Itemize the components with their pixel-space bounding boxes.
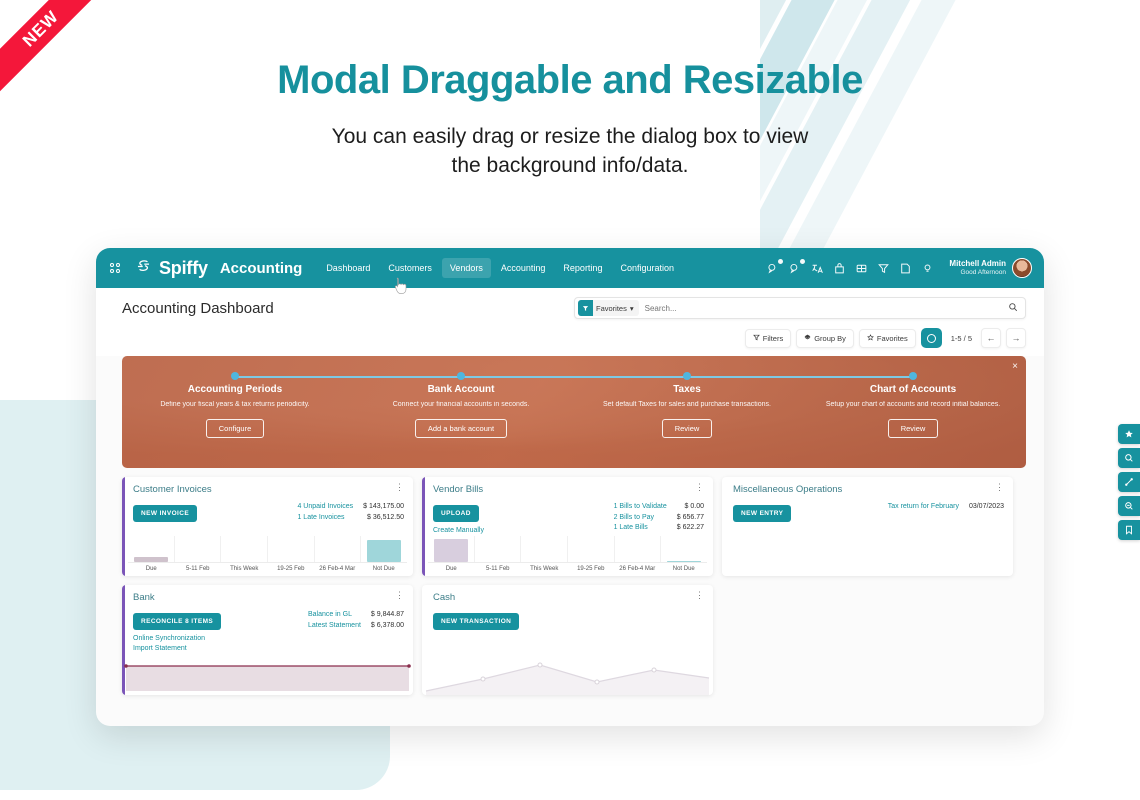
new-invoice-button[interactable]: NEW INVOICE [133,505,197,522]
new-ribbon-label: NEW [0,0,105,93]
chart-x-axis: Due 5-11 Feb This Week 19-25 Feb 26 Feb-… [428,562,707,572]
x-tick: 26 Feb-4 Mar [314,563,361,572]
stat-values: 03/07/2023 [969,502,1004,522]
x-tick: 26 Feb-4 Mar [614,563,661,572]
brand-name: Spiffy [159,258,208,279]
bank-area-chart [122,661,413,695]
menu-item-configuration[interactable]: Configuration [612,258,682,278]
avatar[interactable] [1012,258,1032,278]
discuss-badge [800,259,805,264]
customer-invoices-chart: Due 5-11 Feb This Week 19-25 Feb 26 Feb-… [128,536,407,576]
card-stats: Tax return for February 03/07/2023 [888,502,1004,522]
pager-previous-button[interactable]: ← [981,328,1001,348]
step-dot [683,372,691,380]
stat-label-late-invoices[interactable]: 1 Late Invoices [297,513,353,524]
card-title: Cash [433,592,455,603]
card-header: Cash ⋮ [433,592,704,603]
layers-icon [804,334,811,343]
step-title: Bank Account [348,384,574,395]
menu-item-customers[interactable]: Customers [380,258,440,278]
stat-value-latest-statement: $ 6,378.00 [371,621,404,632]
stat-values: $ 9,844.87 $ 6,378.00 [371,610,404,654]
kebab-menu-icon[interactable]: ⋮ [695,484,704,491]
shop-icon[interactable] [833,262,846,275]
kebab-menu-icon[interactable]: ⋮ [995,484,1004,491]
card-accent-bar [422,477,425,576]
funnel-icon [578,300,593,316]
onboarding-banner: × Accounting Periods Define your fiscal … [122,356,1026,468]
reconcile-items-button[interactable]: RECONCILE 8 ITEMS [133,613,221,630]
step-connector [800,376,913,378]
cash-chart [422,649,713,695]
star-icon [867,334,874,343]
card-header: Vendor Bills ⋮ [433,484,704,495]
user-menu[interactable]: Mitchell Admin Good Afternoon [949,258,1032,278]
page-title: Modal Draggable and Resizable [0,58,1140,103]
top-navbar: Spiffy Accounting Dashboard Customers Ve… [96,248,1044,288]
filter-funnel-icon[interactable] [877,262,890,275]
step-dot [457,372,465,380]
stat-labels: Balance in GL Latest Statement [308,610,361,654]
promo-subtitle-line2: the background info/data. [0,152,1140,181]
user-greeting: Good Afternoon [949,269,1006,277]
favorites-button[interactable]: Favorites [859,329,916,348]
cash-area-chart [422,649,713,695]
new-entry-button[interactable]: NEW ENTRY [733,505,791,522]
stat-label-late-bills[interactable]: 1 Late Bills [614,523,667,534]
control-panel: Accounting Dashboard Favorites ▾ [96,288,1044,356]
filters-button[interactable]: Filters [745,329,791,348]
bookmark-icon[interactable] [1118,520,1140,540]
stat-value-bills-to-pay: $ 656.77 [677,513,704,524]
stat-value-late-bills: $ 622.27 [677,523,704,534]
navbar-right-icons: Mitchell Admin Good Afternoon [767,258,1032,278]
card-stats: 4 Unpaid Invoices 1 Late Invoices $ 143,… [297,502,404,523]
promo-subtitle: You can easily drag or resize the dialog… [0,123,1140,181]
group-by-button[interactable]: Group By [796,329,854,348]
chevron-down-icon[interactable]: ▾ [630,304,634,313]
onboarding-step-bank-account: Bank Account Connect your financial acco… [348,356,574,468]
brand-logo[interactable]: Spiffy [134,257,208,280]
card-header: Miscellaneous Operations ⋮ [733,484,1004,495]
chart-x-axis: Due 5-11 Feb This Week 19-25 Feb 26 Feb-… [128,562,407,572]
stat-value-balance-in-gl: $ 9,844.87 [371,610,404,621]
card-title: Vendor Bills [433,484,483,495]
kebab-menu-icon[interactable]: ⋮ [395,592,404,599]
translate-icon[interactable] [811,262,824,275]
vendor-bills-chart: Due 5-11 Feb This Week 19-25 Feb 26 Feb-… [428,536,707,576]
pager-counter: 1-5 / 5 [951,334,972,343]
stat-value-tax-return-date: 03/07/2023 [969,502,1004,513]
x-tick: Not Due [361,563,408,572]
stat-labels: 1 Bills to Validate 2 Bills to Pay 1 Lat… [614,502,667,536]
step-title: Chart of Accounts [800,384,1026,395]
card-bank: Bank ⋮ RECONCILE 8 ITEMS Online Synchron… [122,585,413,695]
stat-label-unpaid-invoices[interactable]: 4 Unpaid Invoices [297,502,353,513]
step-description: Connect your financial accounts in secon… [348,400,574,410]
onboarding-steps: Accounting Periods Define your fiscal ye… [122,356,1026,468]
chart-plot-area [428,536,707,562]
stat-values: $ 143,175.00 $ 36,512.50 [363,502,404,523]
favorites-button-label: Favorites [877,334,908,343]
stat-label-latest-statement[interactable]: Latest Statement [308,621,361,632]
menu-item-dashboard[interactable]: Dashboard [318,258,378,278]
step-title: Accounting Periods [122,384,348,395]
chart-of-accounts-review-button[interactable]: Review [888,419,939,438]
add-bank-account-button[interactable]: Add a bank account [415,419,507,438]
create-manually-link[interactable]: Create Manually [433,526,484,536]
expand-icon[interactable] [1118,472,1140,492]
messaging-badge [778,259,783,264]
card-stats: 1 Bills to Validate 2 Bills to Pay 1 Lat… [614,502,704,536]
dashboard-cards: Customer Invoices ⋮ NEW INVOICE 4 Unpaid… [96,468,1044,695]
onboarding-step-taxes: Taxes Set default Taxes for sales and pu… [574,356,800,468]
stat-value-unpaid-invoices: $ 143,175.00 [363,502,404,513]
x-tick: 5-11 Feb [175,563,222,572]
x-tick: Due [128,563,175,572]
card-links: Online Synchronization Import Statement [133,634,221,654]
filters-button-label: Filters [763,334,783,343]
stat-value-late-invoices: $ 36,512.50 [363,513,404,524]
step-description: Define your fiscal years & tax returns p… [122,400,348,410]
new-ribbon: NEW [0,0,120,120]
online-synchronization-link[interactable]: Online Synchronization [133,634,221,644]
card-links: Create Manually [433,526,484,536]
stat-value-bills-to-validate: $ 0.00 [677,502,704,513]
stat-label-bills-to-pay[interactable]: 2 Bills to Pay [614,513,667,524]
stat-label-balance-in-gl[interactable]: Balance in GL [308,610,361,621]
search-facet-favorites[interactable]: Favorites ▾ [578,300,639,316]
x-tick: 5-11 Feb [475,563,522,572]
grid-icon[interactable] [855,262,868,275]
card-header: Customer Invoices ⋮ [133,484,404,495]
card-body: NEW TRANSACTION [433,610,704,630]
stat-values: $ 0.00 $ 656.77 $ 622.27 [677,502,704,536]
card-cash: Cash ⋮ NEW TRANSACTION [422,585,713,695]
import-statement-link[interactable]: Import Statement [133,644,221,654]
floating-side-toolbar [1118,424,1140,540]
step-description: Set default Taxes for sales and purchase… [574,400,800,410]
taxes-review-button[interactable]: Review [662,419,713,438]
card-body: UPLOAD Create Manually 1 Bills to Valida… [433,502,704,536]
breadcrumb: Accounting Dashboard [122,300,274,317]
card-stats: Balance in GL Latest Statement $ 9,844.8… [308,610,404,654]
app-window-screenshot: Spiffy Accounting Dashboard Customers Ve… [96,248,1044,726]
kebab-menu-icon[interactable]: ⋮ [695,592,704,599]
apps-grid-icon[interactable] [110,263,120,273]
search-bar[interactable]: Favorites ▾ [574,297,1026,319]
stat-labels: Tax return for February [888,502,959,522]
kebab-menu-icon[interactable]: ⋮ [395,484,404,491]
chart-plot-area [128,536,407,562]
upload-button[interactable]: UPLOAD [433,505,479,522]
group-by-button-label: Group By [814,334,846,343]
search-facet-label: Favorites [596,304,627,313]
onboarding-step-accounting-periods: Accounting Periods Define your fiscal ye… [122,356,348,468]
x-tick: This Week [521,563,568,572]
step-dot [231,372,239,380]
pager-next-button[interactable]: → [1006,328,1026,348]
control-panel-top-row: Accounting Dashboard Favorites ▾ [122,297,1026,319]
user-name: Mitchell Admin [949,259,1006,269]
stat-label-bills-to-validate[interactable]: 1 Bills to Validate [614,502,667,513]
step-description: Setup your chart of accounts and record … [800,400,1026,410]
menu-item-reporting[interactable]: Reporting [555,258,610,278]
star-icon[interactable] [1118,424,1140,444]
spiffy-mark-icon [134,257,153,280]
card-header: Bank ⋮ [133,592,404,603]
card-customer-invoices: Customer Invoices ⋮ NEW INVOICE 4 Unpaid… [122,477,413,576]
view-switcher-kanban[interactable] [921,328,942,348]
note-icon[interactable] [899,262,912,275]
control-panel-bottom-row: Filters Group By Favorites 1-5 / 5 ← → [122,328,1026,356]
x-tick: Due [428,563,475,572]
step-connector [235,376,348,378]
card-title: Miscellaneous Operations [733,484,842,495]
user-text: Mitchell Admin Good Afternoon [949,259,1006,277]
card-body: RECONCILE 8 ITEMS Online Synchronization… [133,610,404,654]
card-vendor-bills: Vendor Bills ⋮ UPLOAD Create Manually 1 … [422,477,713,576]
stat-labels: 4 Unpaid Invoices 1 Late Invoices [297,502,353,523]
card-miscellaneous-operations: Miscellaneous Operations ⋮ NEW ENTRY Tax… [722,477,1013,576]
discuss-icon[interactable] [789,262,802,275]
bulb-icon[interactable] [921,262,934,275]
configure-button[interactable]: Configure [206,419,265,438]
card-body: NEW INVOICE 4 Unpaid Invoices 1 Late Inv… [133,502,404,523]
funnel-icon [753,334,760,343]
step-title: Taxes [574,384,800,395]
promo-header: Modal Draggable and Resizable You can ea… [0,58,1140,181]
menu-item-vendors[interactable]: Vendors [442,258,491,278]
zoom-icon[interactable] [1118,496,1140,516]
new-transaction-button[interactable]: NEW TRANSACTION [433,613,519,630]
x-tick: Not Due [661,563,708,572]
bank-chart [122,661,413,695]
current-app-name: Accounting [220,260,303,277]
messaging-icon[interactable] [767,262,780,275]
search-icon[interactable] [1008,302,1018,315]
step-dot [909,372,917,380]
main-menu: Dashboard Customers Vendors Accounting R… [318,258,682,278]
x-tick: 19-25 Feb [568,563,615,572]
card-body: NEW ENTRY Tax return for February 03/07/… [733,502,1004,522]
card-title: Bank [133,592,155,603]
promo-subtitle-line1: You can easily drag or resize the dialog… [0,123,1140,152]
x-tick: This Week [221,563,268,572]
stat-label-tax-return[interactable]: Tax return for February [888,502,959,513]
x-tick: 19-25 Feb [268,563,315,572]
menu-item-accounting[interactable]: Accounting [493,258,554,278]
onboarding-step-chart-of-accounts: Chart of Accounts Setup your chart of ac… [800,356,1026,468]
card-title: Customer Invoices [133,484,212,495]
search-input[interactable] [645,304,1008,313]
search-icon[interactable] [1118,448,1140,468]
card-accent-bar [122,477,125,576]
